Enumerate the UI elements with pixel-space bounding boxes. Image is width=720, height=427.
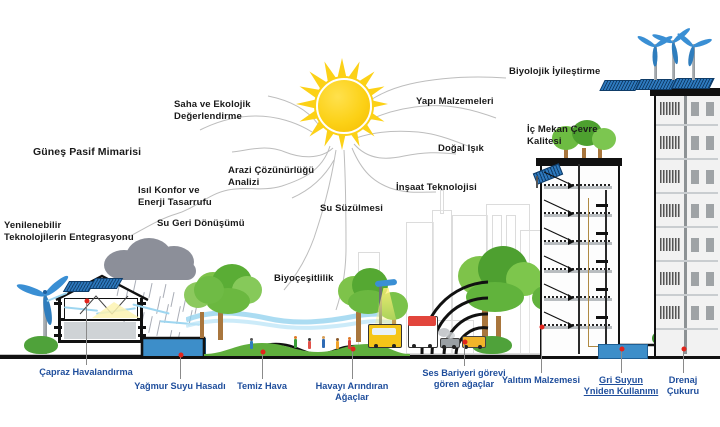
concept-label: Biyoçeşitlilik <box>274 273 333 285</box>
infographic-canvas: Güneş Pasif MimarisiSaha ve Ekolojik Değ… <box>0 0 720 427</box>
concept-label: Arazi Çözünürlüğü Analizi <box>228 165 314 188</box>
callout-marker-dot <box>178 353 183 358</box>
callout-leader-line <box>262 352 263 379</box>
concept-label: İnşaat Teknolojisi <box>396 182 477 194</box>
callout-marker-dot <box>350 347 355 352</box>
concept-label: Yenilenebilir Teknolojilerin Entegrasyon… <box>4 220 134 243</box>
concept-label: Saha ve Ekolojik Değerlendirme <box>174 99 251 122</box>
callout-label: Çapraz Havalandırma <box>39 367 132 378</box>
concept-label: Su Süzülmesi <box>320 203 383 215</box>
callout-leader-line <box>464 342 465 366</box>
callout-marker-dot <box>84 299 89 304</box>
callout-label: Gri Suyun Yniden Kullanımı <box>584 375 659 397</box>
callout-leader-line <box>683 349 684 373</box>
callout-label: Yalıtım Malzemesi <box>502 375 580 386</box>
callout-label: Temiz Hava <box>237 381 287 392</box>
callout-leader-line <box>180 355 181 379</box>
callout-marker-dot <box>681 347 686 352</box>
concept-label: Biyolojik İyileştirme <box>509 66 600 78</box>
callout-leader-line <box>86 301 87 365</box>
concept-label: Doğal Işık <box>438 143 484 155</box>
concept-label: İç Mekan Çevre Kalitesi <box>527 124 598 147</box>
greywater-pipe <box>588 198 613 347</box>
concept-label: Yapı Malzemeleri <box>416 96 494 108</box>
callout-marker-dot <box>260 350 265 355</box>
callout-marker-dot <box>619 347 624 352</box>
callout-leader-line <box>621 349 622 373</box>
concept-label: Güneş Pasif Mimarisi <box>33 146 141 159</box>
callout-marker-dot <box>462 340 467 345</box>
callout-label: Havayı Arındıran Ağaçlar <box>316 381 389 403</box>
callout-leader-line <box>352 349 353 379</box>
concept-label: Isıl Konfor ve Enerji Tasarrufu <box>138 185 212 208</box>
sun-icon <box>296 58 388 150</box>
callout-label: Drenaj Çukuru <box>665 375 702 397</box>
concept-label: Su Geri Dönüşümü <box>157 218 245 230</box>
callout-label: Yağmur Suyu Hasadı <box>134 381 225 392</box>
callout-marker-dot <box>539 325 544 330</box>
callout-leader-line <box>541 327 542 373</box>
callout-label: Ses Bariyeri görevi gören ağaçlar <box>422 368 505 390</box>
